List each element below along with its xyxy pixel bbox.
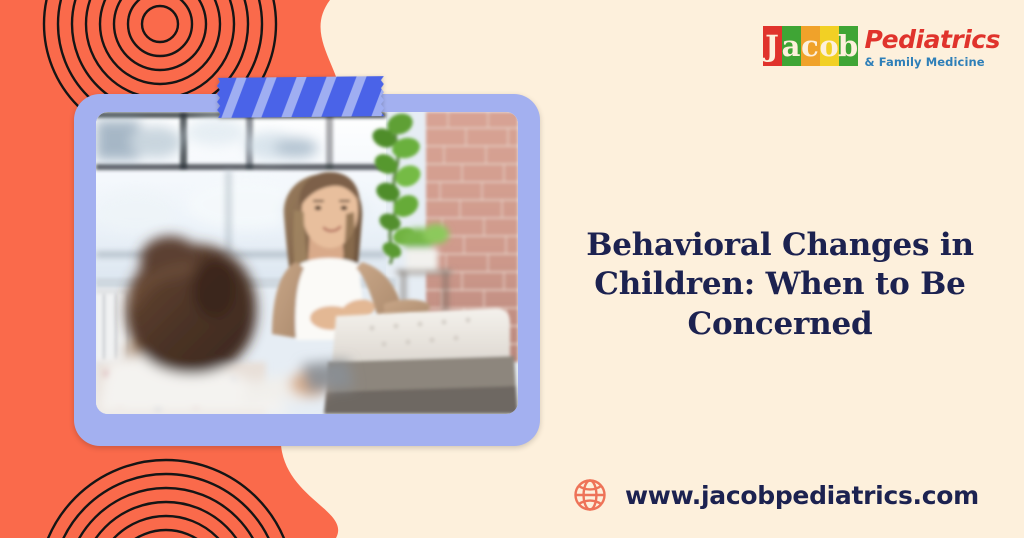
logo-letter-j: J bbox=[763, 26, 782, 66]
logo-letter-o: o bbox=[820, 26, 839, 66]
logo-wordmark: Pediatrics & Family Medicine bbox=[865, 26, 1001, 69]
website-url-row[interactable]: www.jacobpediatrics.com bbox=[572, 477, 979, 513]
globe-icon bbox=[572, 477, 608, 513]
washi-tape bbox=[212, 73, 390, 121]
photo-card bbox=[74, 94, 540, 446]
logo-jacob-tiles: J a c o b bbox=[763, 26, 858, 66]
article-photo bbox=[96, 112, 518, 414]
poster-canvas: J a c o b Pediatrics & Family Medicine B… bbox=[0, 0, 1024, 538]
brand-logo[interactable]: J a c o b Pediatrics & Family Medicine bbox=[763, 26, 1001, 69]
logo-letter-a: a bbox=[782, 26, 801, 66]
logo-letter-b: b bbox=[839, 26, 858, 66]
logo-letter-c: c bbox=[801, 26, 820, 66]
logo-tagline: & Family Medicine bbox=[865, 57, 1001, 69]
logo-brand-text: Pediatrics bbox=[865, 27, 1001, 52]
website-url-text[interactable]: www.jacobpediatrics.com bbox=[625, 481, 979, 510]
page-title: Behavioral Changes in Children: When to … bbox=[556, 226, 1004, 345]
